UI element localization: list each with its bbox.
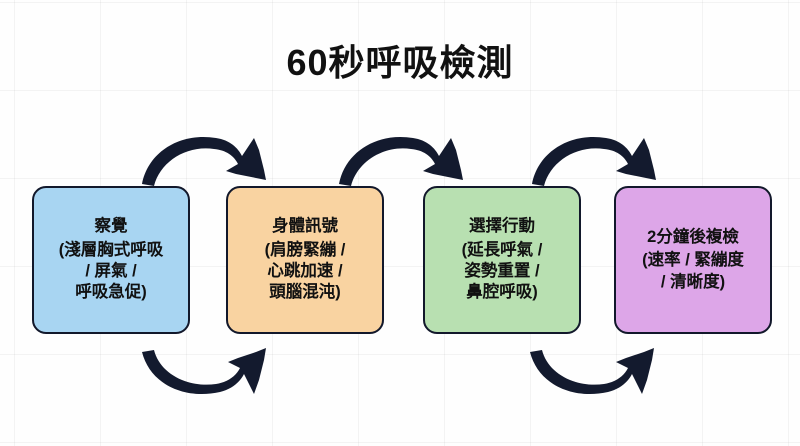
node-detail: (肩膀緊繃 / 心跳加速 / 頭腦混沌) [265,240,346,304]
node-detail: (速率 / 緊繃度 / 清晰度) [642,250,744,293]
arrow-bottom-1 [140,340,270,402]
node-heading: 察覺 [95,216,128,237]
flow-node-choose-action[interactable]: 選擇行動 (延長呼氣 / 姿勢重置 / 鼻腔呼吸) [423,186,581,334]
node-heading: 選擇行動 [469,216,535,237]
page-title: 60秒呼吸檢測 [0,34,800,86]
node-detail: (延長呼氣 / 姿勢重置 / 鼻腔呼吸) [462,240,543,304]
arrow-top-3 [528,126,658,188]
arrow-bottom-2 [528,340,658,402]
node-detail: (淺層胸式呼吸 / 屏氣 / 呼吸急促) [59,240,164,304]
node-heading: 身體訊號 [272,216,338,237]
flow-node-awareness[interactable]: 察覺 (淺層胸式呼吸 / 屏氣 / 呼吸急促) [32,186,190,334]
arrow-top-1 [138,126,268,188]
node-heading: 2分鐘後複檢 [647,227,739,248]
flow-node-body-signals[interactable]: 身體訊號 (肩膀緊繃 / 心跳加速 / 頭腦混沌) [226,186,384,334]
arrow-top-2 [335,126,465,188]
flow-node-recheck[interactable]: 2分鐘後複檢 (速率 / 緊繃度 / 清晰度) [614,186,772,334]
diagram-canvas: 60秒呼吸檢測 察覺 (淺層胸式呼吸 / 屏氣 / 呼吸急促) 身體訊號 (肩膀… [0,0,800,446]
